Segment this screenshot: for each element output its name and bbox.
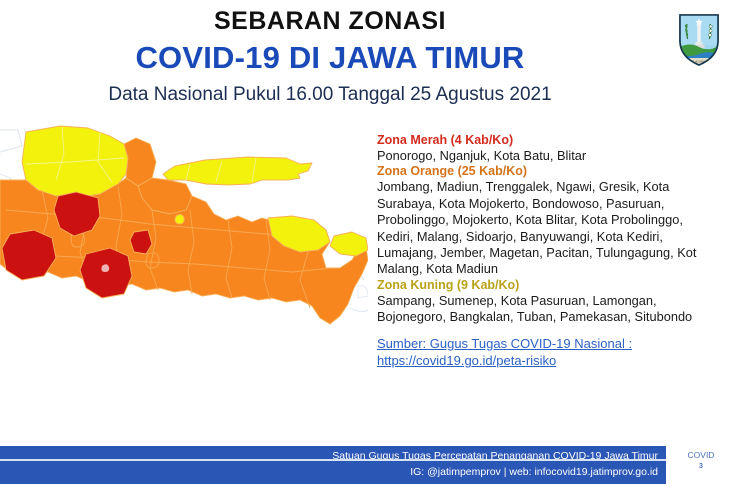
zone-heading-orange: Zona Orange (25 Kab/Ko) xyxy=(377,164,730,179)
zone-block-merah: Zona Merah (4 Kab/Ko) Ponorogo, Nganjuk,… xyxy=(377,133,730,164)
svg-text:JER BASUKI MAWA BEYA: JER BASUKI MAWA BEYA xyxy=(681,60,717,64)
zone-heading-kuning: Zona Kuning (9 Kab/Ko) xyxy=(377,278,730,293)
source-label-link[interactable]: Sumber: Gugus Tugas COVID-19 Nasional : xyxy=(377,335,730,353)
map-edge-microlabel xyxy=(0,276,14,314)
zone-legend: Zona Merah (4 Kab/Ko) Ponorogo, Nganjuk,… xyxy=(377,133,730,393)
slide-header: SEBARAN ZONASI COVID-19 DI JAWA TIMUR Da… xyxy=(0,0,730,118)
footer-org-line: Satuan Gugus Tugas Percepatan Penanganan… xyxy=(332,450,658,463)
page-title: COVID-19 DI JAWA TIMUR xyxy=(0,39,660,77)
zone-list-kuning-line-1: Bojonegoro, Bangkalan, Tuban, Pamekasan,… xyxy=(377,309,730,325)
zone-list-orange-line-2: Probolinggo, Mojokerto, Kota Blitar, Kot… xyxy=(377,212,730,228)
map-container[interactable] xyxy=(0,118,368,356)
zone-list-orange-line-4: Lumajang, Jember, Magetan, Pacitan, Tulu… xyxy=(377,245,730,261)
zone-block-kuning: Zona Kuning (9 Kab/Ko) Sampang, Sumenep,… xyxy=(377,278,730,326)
zone-list-merah-line-0: Ponorogo, Nganjuk, Kota Batu, Blitar xyxy=(377,148,730,164)
zone-list-orange-line-5: Malang, Kota Madiun xyxy=(377,261,730,277)
zone-list-orange-line-0: Jombang, Madiun, Trenggalek, Ngawi, Gres… xyxy=(377,179,730,195)
source-url-link[interactable]: https://covid19.go.id/peta-risiko xyxy=(377,352,730,370)
header-title-line1: SEBARAN ZONASI xyxy=(0,6,660,36)
zone-heading-merah: Zona Merah (4 Kab/Ko) xyxy=(377,133,730,148)
header-subtitle-timestamp: Data Nasional Pukul 16.00 Tanggal 25 Agu… xyxy=(0,83,660,107)
footer-divider xyxy=(0,459,666,461)
map-region-kota-pasuruan xyxy=(175,214,184,224)
page-number: 3 xyxy=(672,463,730,470)
zone-list-orange-line-1: Surabaya, Kota Mojokerto, Bondowoso, Pas… xyxy=(377,196,730,212)
east-java-emblem-icon: JER BASUKI MAWA BEYA xyxy=(676,11,722,69)
zone-block-orange: Zona Orange (25 Kab/Ko) Jombang, Madiun,… xyxy=(377,164,730,277)
footer-side-text: COVID xyxy=(672,449,730,461)
zone-list-orange-line-3: Kediri, Malang, Sidoarjo, Banyuwangi, Ko… xyxy=(377,229,730,245)
footer-contact-line: IG: @jatimpemprov | web: infocovid19.jat… xyxy=(410,466,658,479)
slide-root: SEBARAN ZONASI COVID-19 DI JAWA TIMUR Da… xyxy=(0,0,730,487)
footer-bar: Satuan Gugus Tugas Percepatan Penanganan… xyxy=(0,446,666,484)
source-block: Sumber: Gugus Tugas COVID-19 Nasional : … xyxy=(377,335,730,370)
east-java-zone-map[interactable] xyxy=(0,118,368,356)
zone-list-kuning-line-0: Sampang, Sumenep, Kota Pasuruan, Lamonga… xyxy=(377,293,730,309)
